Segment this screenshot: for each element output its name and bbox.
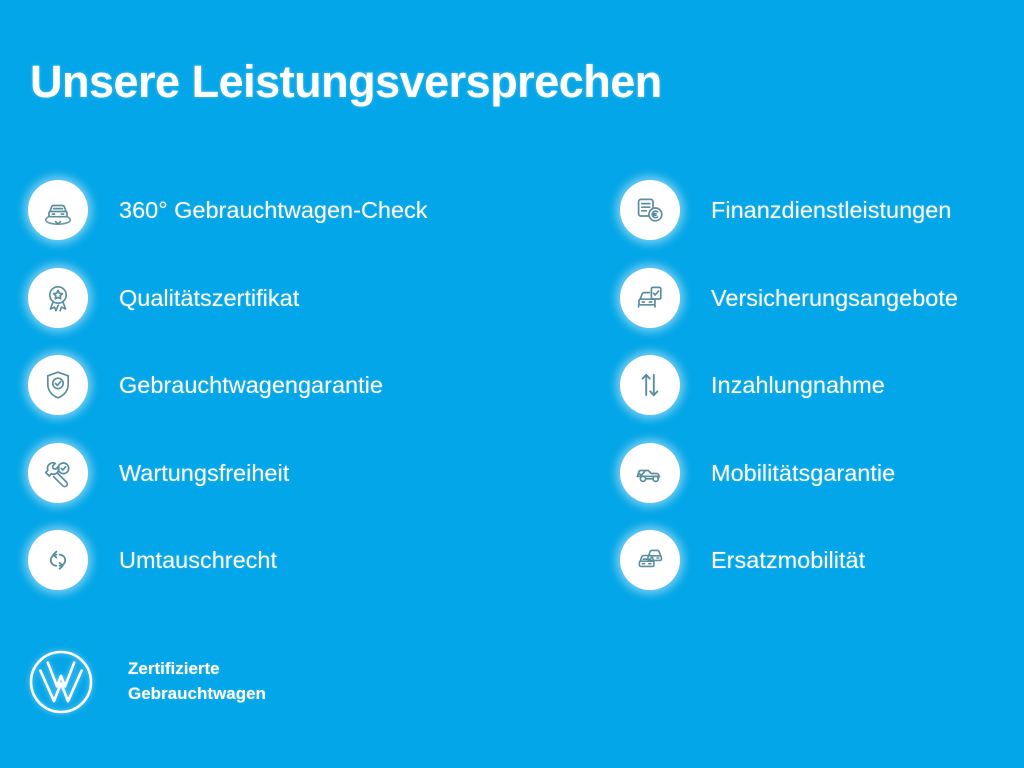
brand-text-line2: Gebrauchtwagen (128, 682, 266, 707)
badge-circle (28, 268, 88, 328)
brand-text: Zertifizierte Gebrauchtwagen (128, 657, 266, 706)
benefit-label: Umtauschrecht (119, 530, 277, 590)
car-360-check-icon (42, 194, 74, 226)
two-cars-icon (634, 544, 666, 576)
benefit-item-360-check[interactable]: 360° Gebrauchtwagen-Check (28, 180, 498, 268)
benefits-column-left: 360° Gebrauchtwagen-Check Qualitätszerti… (28, 180, 498, 618)
benefit-label: Gebrauchtwagengarantie (119, 355, 383, 415)
arrows-up-down-icon (634, 369, 666, 401)
page-title: Unsere Leistungsversprechen (30, 57, 662, 107)
wrench-gear-icon (42, 457, 74, 489)
benefit-item-mobility-guarantee[interactable]: Mobilitätsgarantie (620, 443, 1024, 531)
shield-check-icon (42, 369, 74, 401)
benefit-label: Qualitätszertifikat (119, 268, 299, 328)
benefit-label: Ersatzmobilität (711, 530, 865, 590)
benefit-item-warranty[interactable]: Gebrauchtwagengarantie (28, 355, 498, 443)
badge-circle (28, 443, 88, 503)
benefits-column-right: Finanzdienstleistungen Versicherungsange… (620, 180, 1024, 618)
benefit-label: 360° Gebrauchtwagen-Check (119, 180, 428, 240)
badge-circle (28, 180, 88, 240)
benefit-item-quality-certificate[interactable]: Qualitätszertifikat (28, 268, 498, 356)
exchange-arrows-icon (42, 544, 74, 576)
brand-footer: Zertifizierte Gebrauchtwagen (27, 648, 266, 716)
tow-truck-check-icon (634, 457, 666, 489)
benefit-label: Finanzdienstleistungen (711, 180, 951, 240)
benefit-item-maintenance-free[interactable]: Wartungsfreiheit (28, 443, 498, 531)
car-document-check-icon (634, 282, 666, 314)
brand-text-line1: Zertifizierte (128, 657, 266, 682)
badge-circle (620, 268, 680, 328)
badge-circle (620, 443, 680, 503)
benefit-item-replacement-mobility[interactable]: Ersatzmobilität (620, 530, 1024, 618)
benefit-label: Inzahlungnahme (711, 355, 885, 415)
benefit-label: Mobilitätsgarantie (711, 443, 895, 503)
coins-euro-icon (634, 194, 666, 226)
badge-circle (620, 530, 680, 590)
badge-circle (28, 355, 88, 415)
volkswagen-logo-icon (27, 648, 95, 716)
benefit-item-trade-in[interactable]: Inzahlungnahme (620, 355, 1024, 443)
benefit-item-financial-services[interactable]: Finanzdienstleistungen (620, 180, 1024, 268)
volkswagen-logo-icon (27, 648, 95, 716)
badge-circle (28, 530, 88, 590)
benefit-item-exchange-right[interactable]: Umtauschrecht (28, 530, 498, 618)
benefit-label: Wartungsfreiheit (119, 443, 289, 503)
benefit-item-insurance-offers[interactable]: Versicherungsangebote (620, 268, 1024, 356)
badge-circle (620, 355, 680, 415)
award-rosette-icon (42, 282, 74, 314)
benefit-label: Versicherungsangebote (711, 268, 958, 328)
benefits-poster: Unsere Leistungsversprechen 360° Gebrauc… (0, 0, 1024, 768)
badge-circle (620, 180, 680, 240)
